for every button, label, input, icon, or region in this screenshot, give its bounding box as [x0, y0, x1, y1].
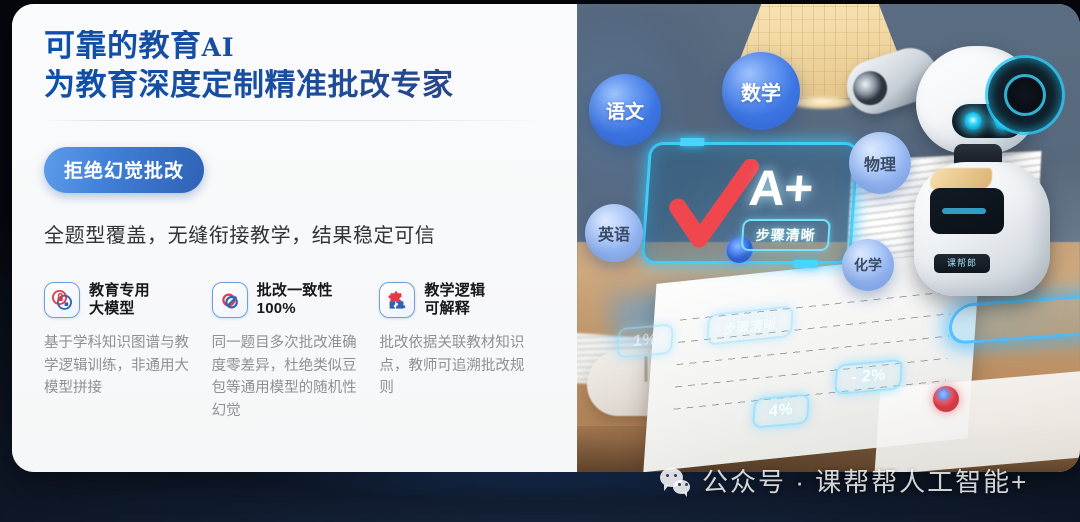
- status-badge: 拒绝幻觉批改: [44, 147, 204, 193]
- hero-card: 可靠的教育AI 为教育深度定制精准批改专家 拒绝幻觉批改 全题型覆盖，无缝衔接教…: [12, 4, 1080, 472]
- feature-description: 同一题目多次批改准确度零差异，杜绝类似豆包等通用模型的随机性幻觉: [212, 332, 362, 422]
- robot-body: 课帮郎: [914, 162, 1050, 296]
- feature-item: 批改一致性 100% 同一题目多次批改准确度零差异，杜绝类似豆包等通用模型的随机…: [212, 282, 380, 422]
- wechat-icon: [660, 468, 690, 494]
- puzzle-piece-icon: [379, 282, 415, 318]
- sync-circles-icon: [212, 282, 248, 318]
- feature-header: 教学逻辑 可解释: [379, 282, 537, 319]
- headline-ai-mark: AI: [202, 33, 235, 62]
- watermark-text: 公众号 · 课帮帮人工智能+: [702, 462, 1028, 499]
- marking-dot-icon: [933, 386, 959, 412]
- headline-line-2: 为教育深度定制精准批改专家: [44, 69, 547, 102]
- feature-list: 教育专用 大模型 基于学科知识图谱与教学逻辑训练，非通用大模型拼接: [44, 282, 547, 422]
- page-title: 可靠的教育AI 为教育深度定制精准批改专家: [44, 30, 547, 102]
- subject-bubble-label: 英语: [598, 221, 630, 245]
- subject-bubble-label: 物理: [864, 151, 896, 175]
- feature-item: 教育专用 大模型 基于学科知识图谱与教学逻辑训练，非通用大模型拼接: [44, 282, 212, 422]
- subject-bubble-physics: 物理: [849, 132, 911, 194]
- subject-bubble-english: 英语: [585, 204, 643, 262]
- subject-bubble-label: 语文: [606, 97, 644, 124]
- score-badge-1: 1%: [616, 323, 673, 358]
- robot-trim: [930, 168, 992, 190]
- robot-chest-screen: [930, 188, 1004, 234]
- promo-poster: 可靠的教育AI 为教育深度定制精准批改专家 拒绝幻觉批改 全题型覆盖，无缝衔接教…: [0, 0, 1080, 522]
- score-badge-minus-2: - 2%: [834, 359, 903, 395]
- feature-header: 批改一致性 100%: [212, 282, 370, 319]
- homework-sheet-secondary: [874, 370, 1080, 472]
- feature-title-line-1: 教育专用: [89, 282, 150, 299]
- subject-bubble-math: 数学: [722, 52, 800, 130]
- subject-bubble-label: 化学: [854, 255, 882, 275]
- grade-value: A+: [747, 159, 814, 217]
- robot-assistant: 课帮郎: [892, 18, 1080, 318]
- card-notch-top: [680, 138, 705, 146]
- feature-title: 教育专用 大模型: [89, 282, 150, 319]
- feature-header: 教育专用 大模型: [44, 282, 202, 319]
- subtitle: 全题型覆盖，无缝衔接教学，结果稳定可信: [44, 219, 547, 248]
- wechat-dot: [674, 474, 677, 477]
- feature-description: 批改依据关联教材知识点，教师可追溯批改规则: [379, 332, 529, 399]
- hero-illustration: 课帮郎 A+ 步骤清晰 语文 数学 物理: [577, 4, 1080, 472]
- score-badge-4: 4%: [752, 393, 810, 428]
- feature-title: 教学逻辑 可解释: [424, 282, 485, 319]
- wechat-dot: [685, 483, 688, 486]
- card-notch-bottom: [793, 260, 818, 268]
- feature-title-line-2: 100%: [257, 300, 333, 318]
- robot-eye-left-icon: [964, 112, 982, 130]
- headline-line-1-text: 可靠的教育: [44, 28, 202, 63]
- feature-item: 教学逻辑 可解释 批改依据关联教材知识点，教师可追溯批改规则: [379, 282, 547, 422]
- watermark: 公众号 · 课帮帮人工智能+: [660, 462, 1028, 499]
- title-divider: [46, 120, 545, 121]
- feature-title-line-1: 批改一致性: [257, 282, 333, 299]
- feature-description: 基于学科知识图谱与教学逻辑训练，非通用大模型拼接: [44, 332, 194, 399]
- subject-bubble-chinese: 语文: [589, 74, 661, 146]
- left-content-pane: 可靠的教育AI 为教育深度定制精准批改专家 拒绝幻觉批改 全题型覆盖，无缝衔接教…: [12, 4, 577, 472]
- lock-circles-icon: [44, 282, 80, 318]
- subject-bubble-label: 数学: [741, 77, 781, 106]
- headline-line-1: 可靠的教育AI: [44, 30, 547, 63]
- wechat-dot: [666, 474, 669, 477]
- wechat-bubble-small: [673, 480, 690, 494]
- feature-title-line-2: 可解释: [424, 300, 485, 318]
- robot-chip-label: 课帮郎: [934, 254, 990, 273]
- feature-title: 批改一致性 100%: [257, 282, 333, 319]
- wechat-dot: [678, 483, 681, 486]
- feature-title-line-2: 大模型: [89, 300, 150, 318]
- grade-hologram-card: A+ 步骤清晰: [641, 142, 860, 264]
- grade-tag: 步骤清晰: [741, 219, 831, 251]
- subject-bubble-chemistry: 化学: [842, 239, 894, 291]
- robot-side-ring-icon: [988, 58, 1062, 132]
- feature-title-line-1: 教学逻辑: [424, 282, 485, 299]
